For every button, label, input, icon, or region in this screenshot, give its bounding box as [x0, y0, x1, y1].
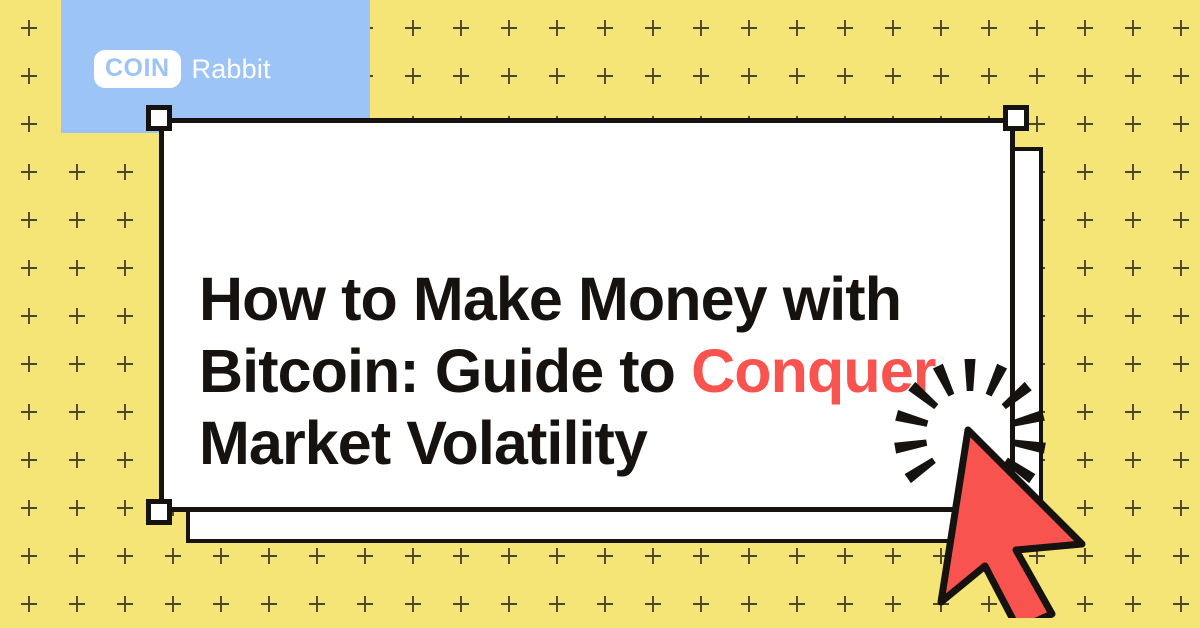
headline-part-2: Market Volatility [199, 409, 647, 477]
logo-coin-chip: COIN [94, 50, 181, 88]
coinrabbit-logo[interactable]: COIN Rabbit [94, 50, 271, 88]
page-title: How to Make Money with Bitcoin: Guide to… [199, 263, 989, 479]
social-card-canvas: COIN Rabbit How to Make Money with Bitco… [0, 0, 1200, 628]
selection-handle-bottom-left[interactable] [146, 499, 172, 525]
logo-rabbit-text: Rabbit [192, 56, 271, 83]
selection-handle-top-right[interactable] [1003, 105, 1029, 131]
logo-coin-text: COIN [105, 56, 170, 81]
headline-accent-word: Conquer [691, 337, 935, 405]
selection-handle-top-left[interactable] [146, 105, 172, 131]
